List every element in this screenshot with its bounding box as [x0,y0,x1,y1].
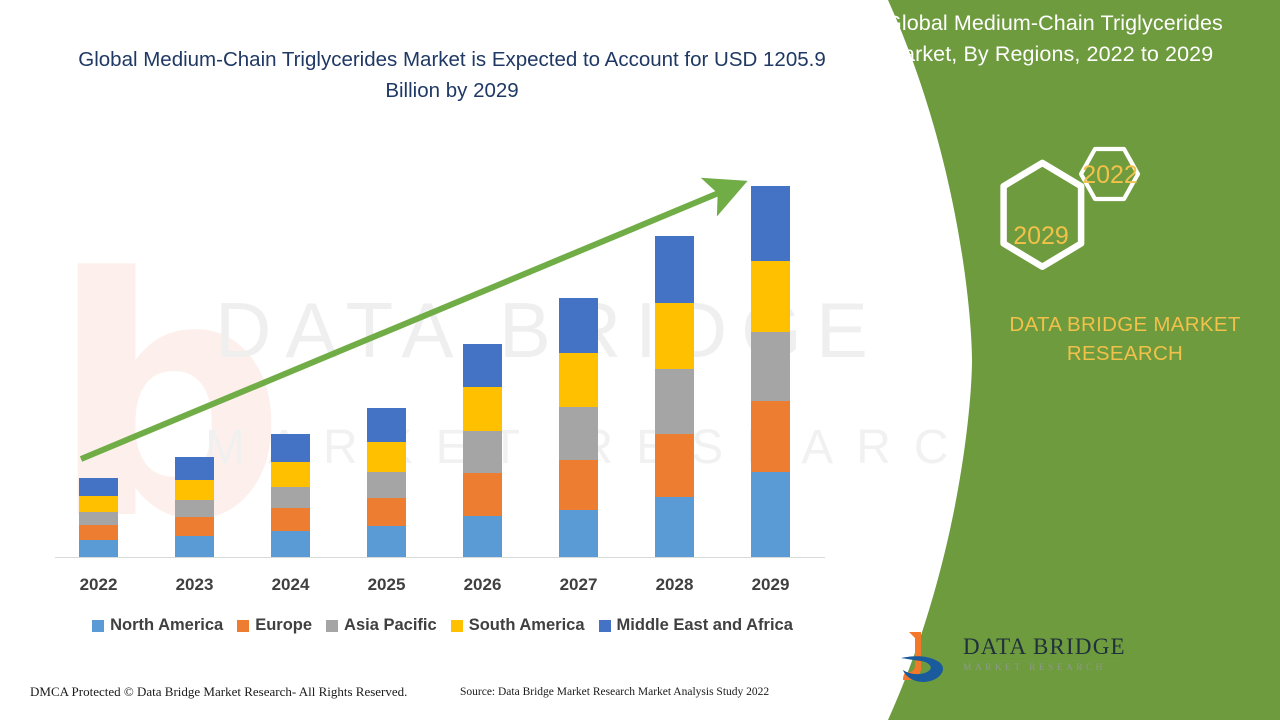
bar-segment[interactable] [271,531,310,557]
chart-baseline-axis [55,557,825,558]
legend-label: Middle East and Africa [617,616,793,635]
copyright-notice: DMCA Protected © Data Bridge Market Rese… [30,684,407,700]
panel-title: Global Medium-Chain Triglycerides Market… [885,8,1270,70]
legend-label: South America [469,616,585,635]
bar-segment[interactable] [751,332,790,401]
bar-segment[interactable] [79,525,118,540]
bar-segment[interactable] [559,407,598,460]
bar-segment[interactable] [367,526,406,557]
logo-wordmark: DATA BRIDGE MARKET RESEARCH [963,634,1128,673]
legend-swatch-icon [92,620,104,632]
bar-segment[interactable] [367,498,406,526]
bar-segment[interactable] [271,508,310,531]
bar-2026[interactable] [463,344,502,557]
x-axis-label-2022: 2022 [51,575,147,595]
bar-segment[interactable] [271,462,310,487]
bar-2025[interactable] [367,408,406,557]
bar-segment[interactable] [367,472,406,498]
bar-segment[interactable] [367,442,406,472]
bar-segment[interactable] [463,516,502,557]
x-axis-labels: 20222023202420252026202720282029 [0,575,860,599]
source-notice: Source: Data Bridge Market Research Mark… [460,686,769,698]
bar-segment[interactable] [751,261,790,332]
bar-segment[interactable] [175,517,214,536]
legend-item[interactable]: Middle East and Africa [599,616,793,635]
x-axis-label-2028: 2028 [627,575,723,595]
hexagon-2022-label: 2022 [1082,161,1138,189]
bar-segment[interactable] [463,431,502,473]
bar-2027[interactable] [559,298,598,557]
bar-2029[interactable] [751,186,790,557]
bar-2028[interactable] [655,236,694,557]
bar-segment[interactable] [751,472,790,557]
brand-name: DATA BRIDGE MARKET RESEARCH [975,310,1275,368]
bar-segment[interactable] [79,496,118,512]
bar-segment[interactable] [463,387,502,431]
logo-sub-text: MARKET RESEARCH [963,663,1128,673]
logo-mark-icon [895,628,957,688]
legend-item[interactable]: South America [451,616,585,635]
legend-label: Europe [255,616,312,635]
bar-segment[interactable] [175,457,214,480]
bar-segment[interactable] [175,536,214,557]
bar-segment[interactable] [559,298,598,353]
bar-segment[interactable] [367,408,406,442]
x-axis-label-2023: 2023 [147,575,243,595]
bar-segment[interactable] [271,434,310,462]
x-axis-label-2029: 2029 [723,575,819,595]
legend-swatch-icon [326,620,338,632]
x-axis-label-2026: 2026 [435,575,531,595]
bar-segment[interactable] [271,487,310,508]
infographic-root: b DATA BRIDGE MARKET RESEARCH Global Med… [0,0,1280,720]
bar-segment[interactable] [655,369,694,434]
logo-main-text: DATA BRIDGE [963,634,1128,659]
bar-2023[interactable] [175,457,214,557]
bar-segment[interactable] [751,186,790,261]
company-logo: DATA BRIDGE MARKET RESEARCH [895,628,1125,690]
bar-2022[interactable] [79,478,118,557]
legend-swatch-icon [451,620,463,632]
legend-item[interactable]: North America [92,616,223,635]
bar-segment[interactable] [463,344,502,387]
x-axis-label-2024: 2024 [243,575,339,595]
legend-item[interactable]: Europe [237,616,312,635]
bar-segment[interactable] [655,434,694,497]
bar-segment[interactable] [655,497,694,557]
hexagon-2029-label: 2029 [1013,222,1069,250]
bar-segment[interactable] [655,236,694,303]
bar-segment[interactable] [463,473,502,516]
x-axis-label-2027: 2027 [531,575,627,595]
bar-segment[interactable] [655,303,694,369]
hexagon-2029-shape [1004,163,1082,267]
bar-segment[interactable] [559,353,598,407]
bar-segment[interactable] [559,460,598,510]
chart-plot-area [0,0,860,720]
legend-item[interactable]: Asia Pacific [326,616,437,635]
x-axis-label-2025: 2025 [339,575,435,595]
bar-segment[interactable] [175,500,214,517]
bar-segment[interactable] [559,510,598,557]
chart-legend: North AmericaEuropeAsia PacificSouth Ame… [55,616,830,635]
bar-segment[interactable] [79,540,118,557]
bar-2024[interactable] [271,434,310,557]
bar-segment[interactable] [751,401,790,472]
bar-segment[interactable] [79,478,118,496]
legend-label: North America [110,616,223,635]
logo-divider [963,660,1123,662]
year-hexagon-badges: 2029 2022 [985,135,1175,280]
legend-swatch-icon [599,620,611,632]
legend-swatch-icon [237,620,249,632]
legend-label: Asia Pacific [344,616,437,635]
bar-segment[interactable] [175,480,214,500]
bar-segment[interactable] [79,512,118,525]
